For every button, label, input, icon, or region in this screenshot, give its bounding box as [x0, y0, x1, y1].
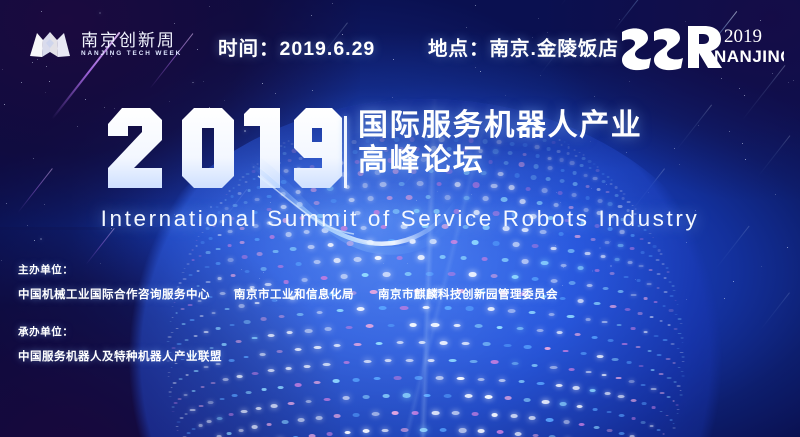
host-label: 主办单位：	[18, 262, 718, 277]
title-chinese-line1: 国际服务机器人产业	[358, 109, 642, 144]
title-year-2019	[104, 106, 344, 190]
co-organizer-item: 中国服务机器人及特种机器人产业联盟	[18, 348, 222, 364]
event-time: 时间： 2019.6.29	[218, 32, 375, 61]
title-english: International Summit of Service Robots I…	[0, 206, 800, 232]
logo-cn-name: 南京创新周	[81, 32, 182, 50]
ssr-event-mark: 2019 NANJING	[616, 22, 784, 74]
event-place-value: 南京.金陵饭店	[490, 32, 619, 61]
host-item: 南京市工业和信息化局	[234, 286, 354, 302]
event-time-label: 时间：	[218, 32, 280, 61]
origami-n-mark-icon	[28, 26, 72, 64]
ssr-year-text: 2019	[724, 26, 762, 47]
co-organizer-list: 中国服务机器人及特种机器人产业联盟	[18, 348, 718, 364]
nanjing-tech-week-logo: 南京创新周 NANJING TECH WEEK	[28, 26, 182, 64]
ssr-city-text: NANJING	[714, 47, 784, 66]
poster-header: 南京创新周 NANJING TECH WEEK 时间： 2019.6.29 地点…	[0, 0, 800, 86]
event-place-label: 地点：	[428, 32, 490, 61]
host-item: 南京市麒麟科技创新园管理委员会	[378, 286, 558, 302]
host-list: 中国机械工业国际合作咨询服务中心 南京市工业和信息化局 南京市麒麟科技创新园管理…	[18, 286, 718, 302]
logo-en-name: NANJING TECH WEEK	[81, 51, 182, 57]
poster-title-zone: 国际服务机器人产业 高峰论坛 International Summit of S…	[0, 104, 800, 254]
title-divider	[344, 116, 347, 188]
event-poster: 南京创新周 NANJING TECH WEEK 时间： 2019.6.29 地点…	[0, 0, 800, 437]
organizers-section: 主办单位： 中国机械工业国际合作咨询服务中心 南京市工业和信息化局 南京市麒麟科…	[18, 262, 718, 364]
co-organizer-label: 承办单位：	[18, 324, 718, 339]
event-time-value: 2019.6.29	[280, 38, 376, 61]
title-chinese: 国际服务机器人产业 高峰论坛	[358, 109, 642, 179]
title-chinese-line2: 高峰论坛	[358, 144, 642, 179]
event-place: 地点： 南京.金陵饭店	[428, 32, 619, 61]
host-item: 中国机械工业国际合作咨询服务中心	[18, 286, 210, 302]
